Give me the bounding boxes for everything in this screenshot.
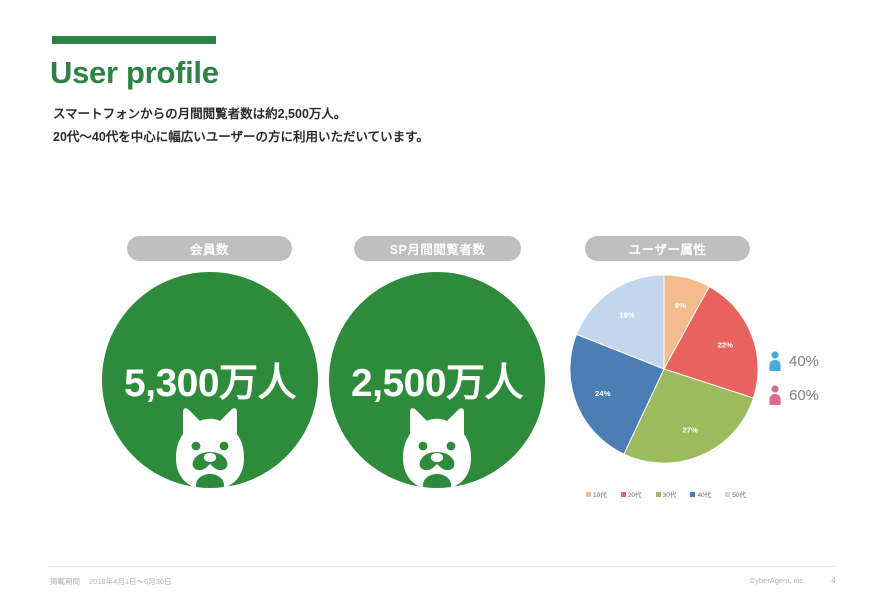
legend-swatch-icon: [690, 492, 695, 497]
pie-slice-label-40代: 24%: [595, 389, 611, 398]
legend-swatch-icon: [725, 492, 730, 497]
subtitle-line-2: 20代〜40代を中心に幅広いユーザーの方に利用いただいています。: [53, 126, 429, 149]
ameba-dog-mascot-icon: [173, 404, 247, 488]
pie-age-legend: 10代20代30代40代50代: [586, 489, 746, 499]
footer-period: 掲載期間 2018年4月1日〜6月30日: [50, 576, 172, 587]
stat-circle-sp-monthly-viewers: 2,500万人: [329, 272, 545, 488]
footer-company: CyberAgent, inc.: [750, 576, 805, 585]
subtitle-line-1: スマートフォンからの月間閲覧者数は約2,500万人。: [53, 103, 429, 126]
footer-meta: CyberAgent, inc. 4: [750, 575, 836, 585]
stat-value-sp-monthly-viewers: 2,500万人: [329, 352, 545, 408]
title-accent-bar: [52, 36, 216, 44]
pie-slice-group: [570, 275, 758, 463]
stat-pill-sp-monthly-viewers: SP月間閲覧者数: [354, 236, 521, 261]
subtitle-block: スマートフォンからの月間閲覧者数は約2,500万人。 20代〜40代を中心に幅広…: [53, 103, 429, 149]
legend-label: 40代: [697, 489, 711, 499]
footer-page-number: 4: [831, 575, 836, 585]
slide-user-profile: User profile スマートフォンからの月間閲覧者数は約2,500万人。 …: [0, 0, 885, 608]
legend-swatch-icon: [621, 492, 626, 497]
legend-swatch-icon: [586, 492, 591, 497]
legend-swatch-icon: [656, 492, 661, 497]
pie-slice-label-20代: 22%: [717, 341, 733, 350]
female-person-icon: [768, 385, 782, 405]
legend-label: 50代: [732, 489, 746, 499]
ameba-dog-mascot-icon: [400, 404, 474, 488]
legend-item-50代: 50代: [725, 489, 746, 499]
stat-circle-members: 5,300万人: [102, 272, 318, 488]
gender-row-male: 40%: [768, 344, 819, 378]
stat-pill-user-attributes: ユーザー属性: [585, 236, 750, 261]
gender-legend: 40% 60%: [768, 344, 819, 412]
stat-pill-members: 会員数: [127, 236, 292, 261]
user-age-pie-chart: 8%22%27%24%19%: [567, 272, 761, 466]
legend-item-20代: 20代: [621, 489, 642, 499]
legend-label: 20代: [628, 489, 642, 499]
footer-divider: [49, 566, 836, 567]
legend-item-10代: 10代: [586, 489, 607, 499]
pie-slice-label-50代: 19%: [619, 310, 635, 319]
gender-value-male: 40%: [789, 353, 819, 370]
pie-slice-label-30代: 27%: [682, 425, 698, 434]
footer-period-value: 2018年4月1日〜6月30日: [89, 576, 172, 587]
page-title: User profile: [50, 55, 219, 91]
pie-slice-label-10代: 8%: [675, 301, 686, 310]
male-person-icon: [768, 351, 782, 371]
legend-label: 30代: [663, 489, 677, 499]
legend-item-30代: 30代: [656, 489, 677, 499]
gender-row-female: 60%: [768, 378, 819, 412]
stat-value-members: 5,300万人: [102, 352, 318, 408]
legend-item-40代: 40代: [690, 489, 711, 499]
gender-value-female: 60%: [789, 387, 819, 404]
pie-chart-svg: 8%22%27%24%19%: [567, 272, 761, 466]
legend-label: 10代: [593, 489, 607, 499]
footer-period-label: 掲載期間: [50, 576, 80, 587]
